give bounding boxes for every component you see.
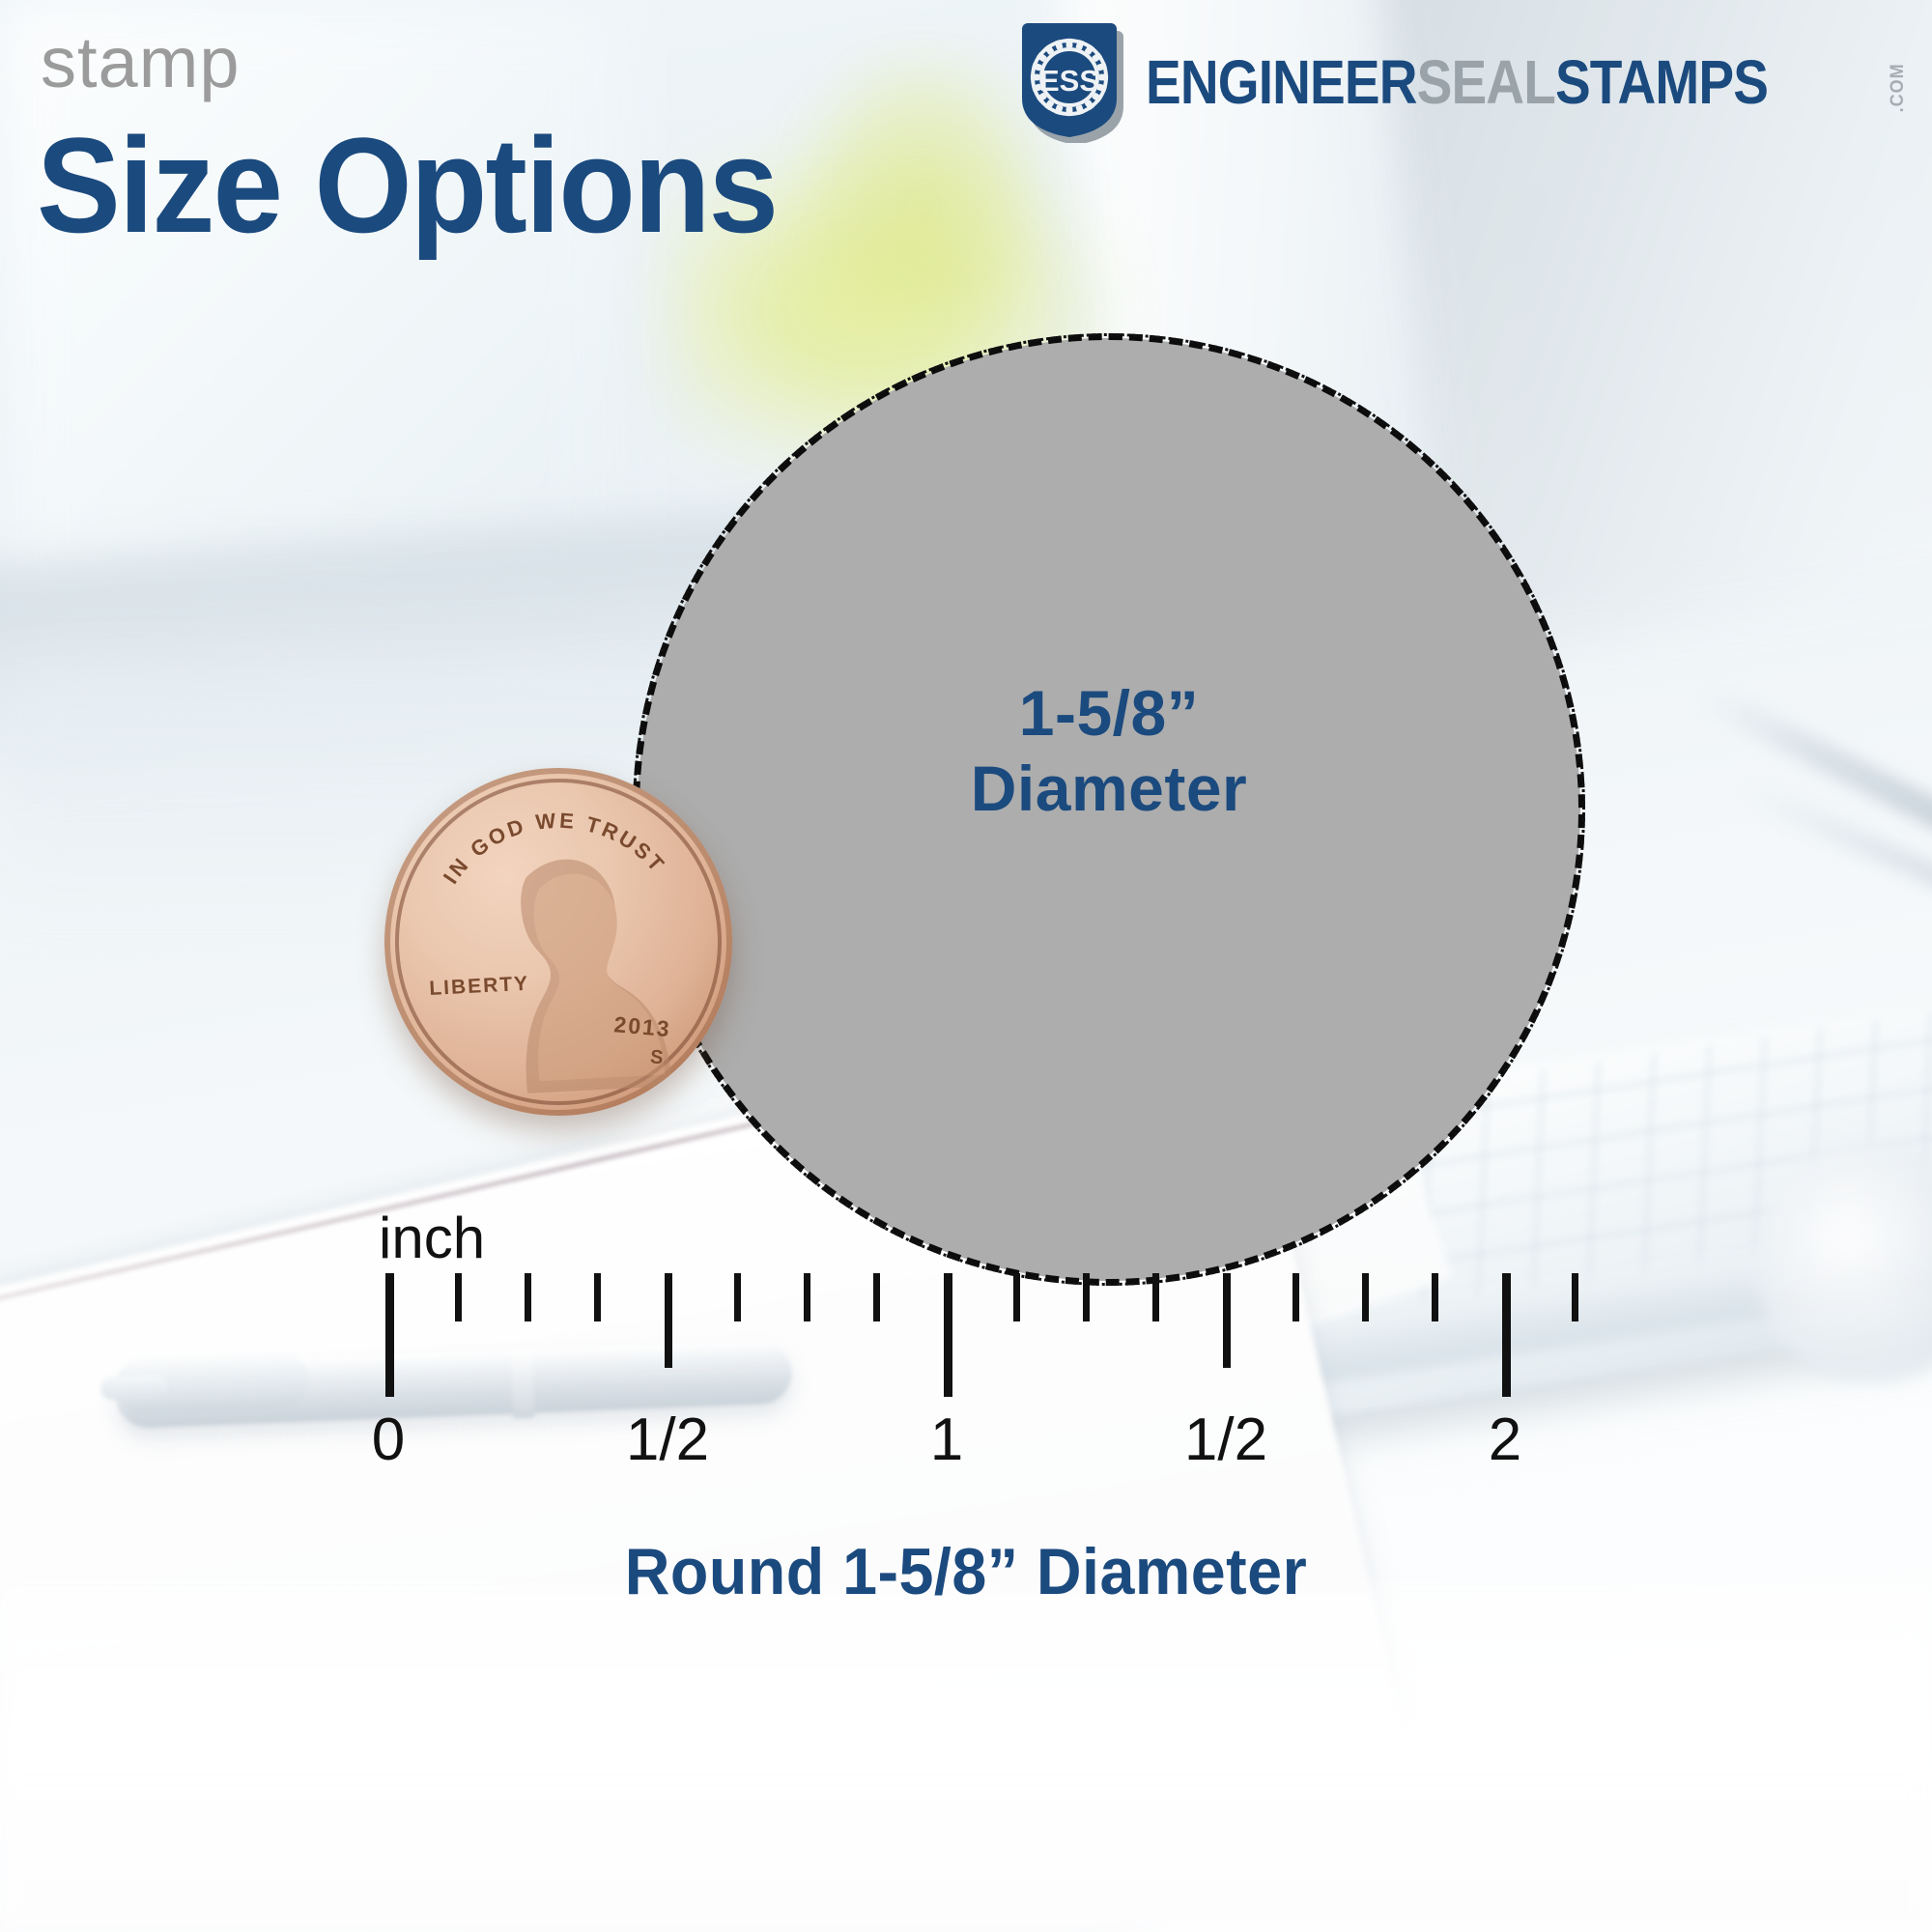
ruler-tick-minor <box>1293 1273 1299 1321</box>
logo-word-seal: SEAL <box>1417 51 1555 113</box>
ruler-tick-minor <box>734 1273 741 1321</box>
logo-wordmark: ENGINEER SEAL STAMPS <box>1146 51 1768 113</box>
ruler-tick-minor <box>873 1273 880 1321</box>
ess-logo[interactable]: ESS ENGINEER SEAL STAMPS .COM <box>1014 21 1907 143</box>
logo-word-dotcom: .COM <box>1889 52 1907 113</box>
logo-badge-text: ESS <box>1039 64 1099 98</box>
brand-word: stamp <box>41 27 241 99</box>
ruler-label: 0 <box>372 1410 405 1470</box>
ruler-tick-half <box>1223 1273 1231 1368</box>
size-circle-dimension-unit: Diameter <box>638 752 1580 827</box>
ruler-label: 2 <box>1489 1410 1521 1470</box>
ruler-label: 1/2 <box>1184 1410 1267 1470</box>
ruler-tick-major <box>1502 1273 1511 1397</box>
ruler-unit-label: inch <box>379 1209 485 1267</box>
ruler-tick-minor <box>1432 1273 1438 1321</box>
logo-word-stamps: STAMPS <box>1555 51 1768 113</box>
ruler-tick-major <box>944 1273 952 1397</box>
ruler-tick-major <box>385 1273 394 1397</box>
ruler-tick-minor <box>1362 1273 1369 1321</box>
penny-liberty-text: LIBERTY <box>429 973 530 1000</box>
us-penny-coin: IN GOD WE TRUST LIBERTY 2013 S <box>376 759 741 1124</box>
size-circle-label: 1-5/8” Diameter <box>638 676 1580 827</box>
ruler-tick-minor <box>804 1273 810 1321</box>
gear-shield-icon: ESS <box>1014 21 1132 143</box>
inch-ruler: inch 01/211/22 <box>0 1198 1932 1507</box>
ruler-tick-minor <box>1013 1273 1020 1321</box>
ruler-tick-half <box>665 1273 672 1368</box>
size-circle-dimension: 1-5/8” <box>638 676 1580 752</box>
page-title: Size Options <box>37 118 777 253</box>
ruler-label: 1/2 <box>626 1410 709 1470</box>
size-caption: Round 1-5/8” Diameter <box>48 1534 1884 1609</box>
ruler-tick-minor <box>1572 1273 1578 1321</box>
ruler-tick-minor <box>525 1273 531 1321</box>
penny-year-text: 2013 <box>613 1011 672 1041</box>
ruler-label: 1 <box>930 1410 963 1470</box>
ruler-tick-minor <box>594 1273 601 1321</box>
penny-mintmark-text: S <box>649 1046 664 1068</box>
background-bottom-wash <box>0 1584 1932 1932</box>
ruler-tick-minor <box>1083 1273 1090 1321</box>
size-options-graphic: stamp Size Options ESS ENGINEER SEAL STA… <box>0 0 1932 1932</box>
ruler-tick-minor <box>1152 1273 1159 1321</box>
ruler-tick-minor <box>455 1273 462 1321</box>
background-plant-top <box>802 58 1043 309</box>
logo-word-engineer: ENGINEER <box>1146 51 1417 113</box>
